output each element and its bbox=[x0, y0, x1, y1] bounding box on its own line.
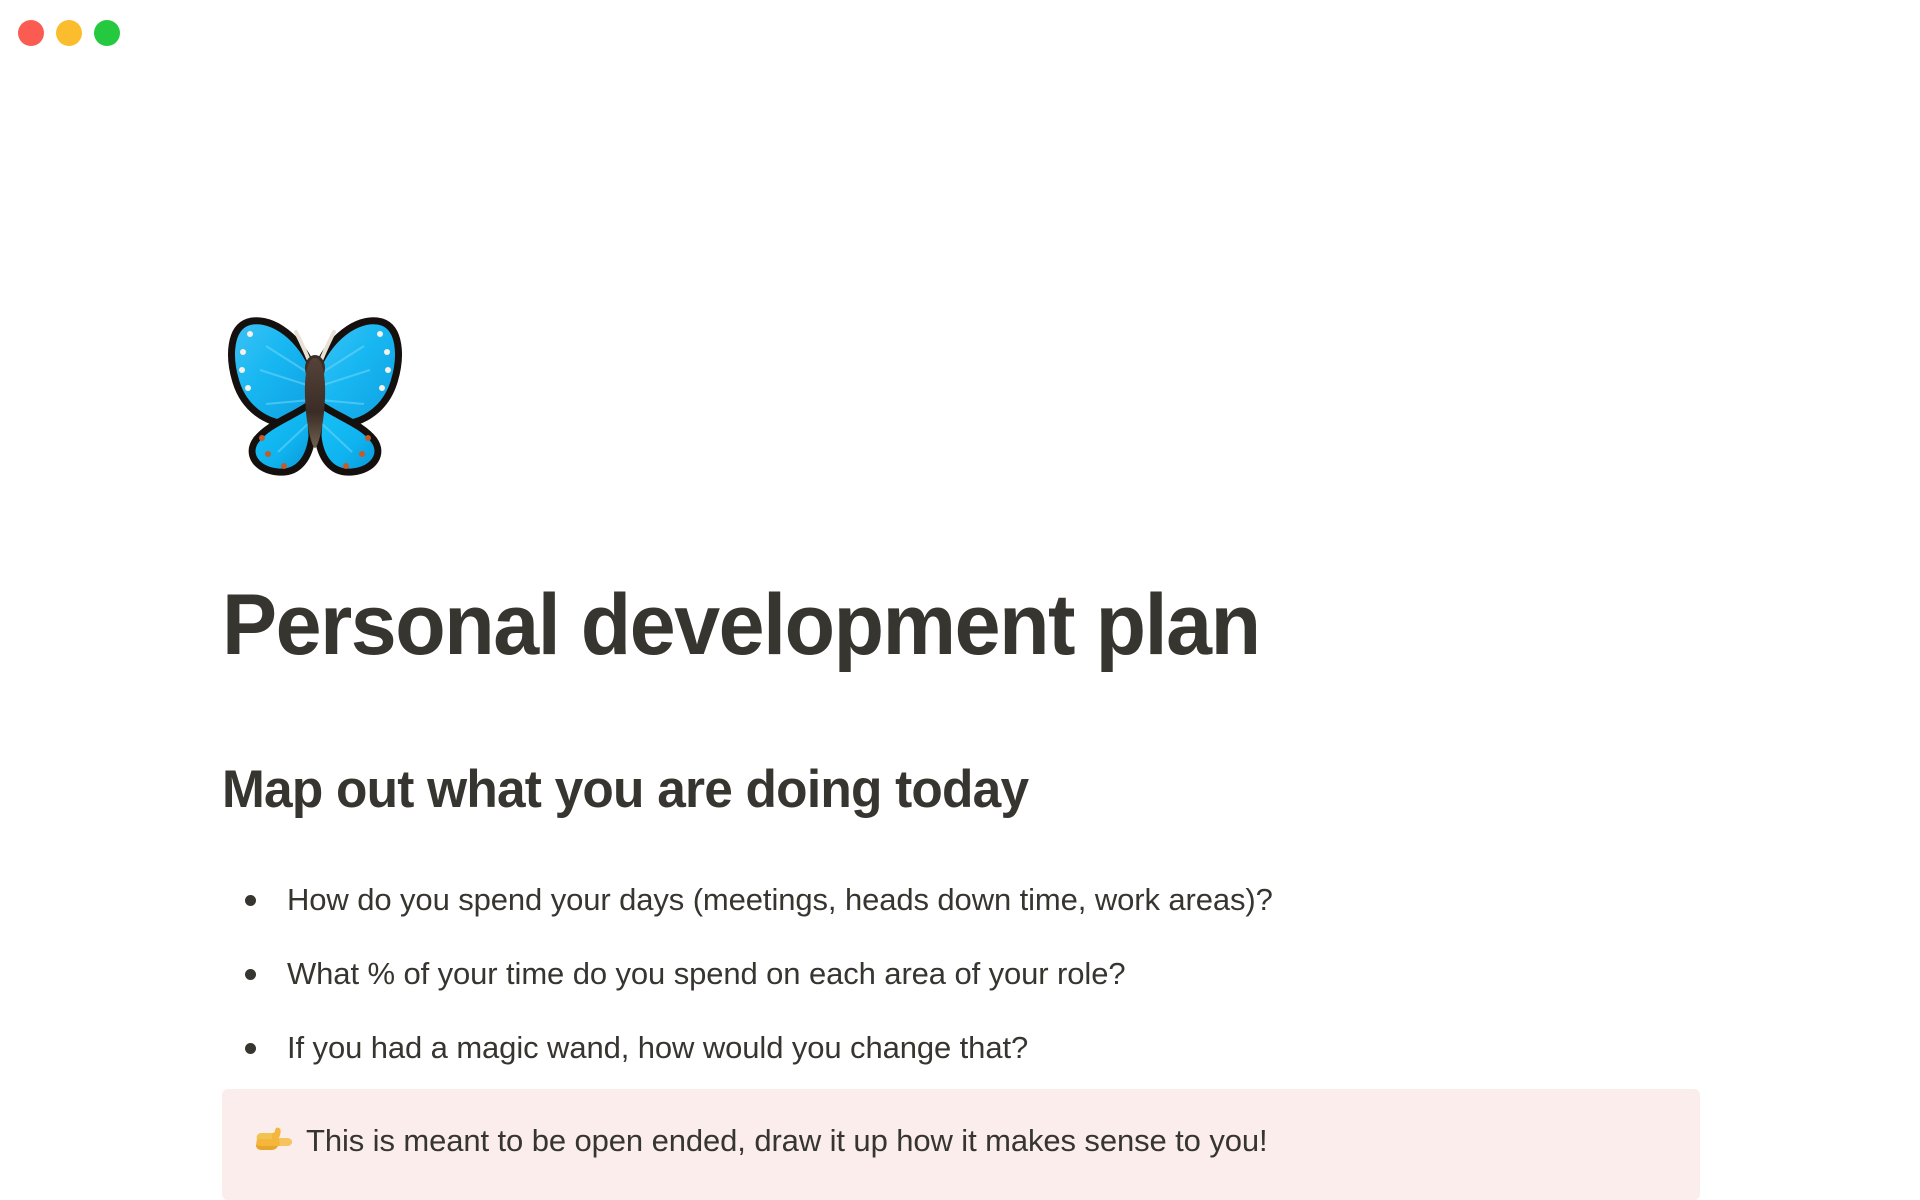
section-heading[interactable]: Map out what you are doing today bbox=[222, 757, 1028, 823]
list-item-label: If you had a magic wand, how would you c… bbox=[287, 1025, 1028, 1071]
bullet-icon bbox=[245, 969, 256, 980]
question-list: How do you spend your days (meetings, he… bbox=[222, 877, 1702, 1099]
butterfly-icon[interactable] bbox=[222, 312, 412, 487]
callout-box[interactable]: This is meant to be open ended, draw it … bbox=[222, 1089, 1700, 1200]
list-item[interactable]: If you had a magic wand, how would you c… bbox=[222, 1025, 1702, 1099]
bullet-icon bbox=[245, 895, 256, 906]
list-item[interactable]: What % of your time do you spend on each… bbox=[222, 951, 1702, 1025]
page-title[interactable]: Personal development plan bbox=[222, 573, 1260, 677]
callout-text: This is meant to be open ended, draw it … bbox=[306, 1119, 1672, 1163]
app-window: Personal development plan Map out what y… bbox=[0, 0, 1920, 1200]
list-item[interactable]: How do you spend your days (meetings, he… bbox=[222, 877, 1702, 951]
list-item-label: How do you spend your days (meetings, he… bbox=[287, 877, 1273, 923]
document-body: Personal development plan Map out what y… bbox=[0, 0, 1920, 1200]
bullet-icon bbox=[245, 1043, 256, 1054]
pointing-right-hand-icon bbox=[250, 1119, 306, 1163]
list-item-label: What % of your time do you spend on each… bbox=[287, 951, 1125, 997]
